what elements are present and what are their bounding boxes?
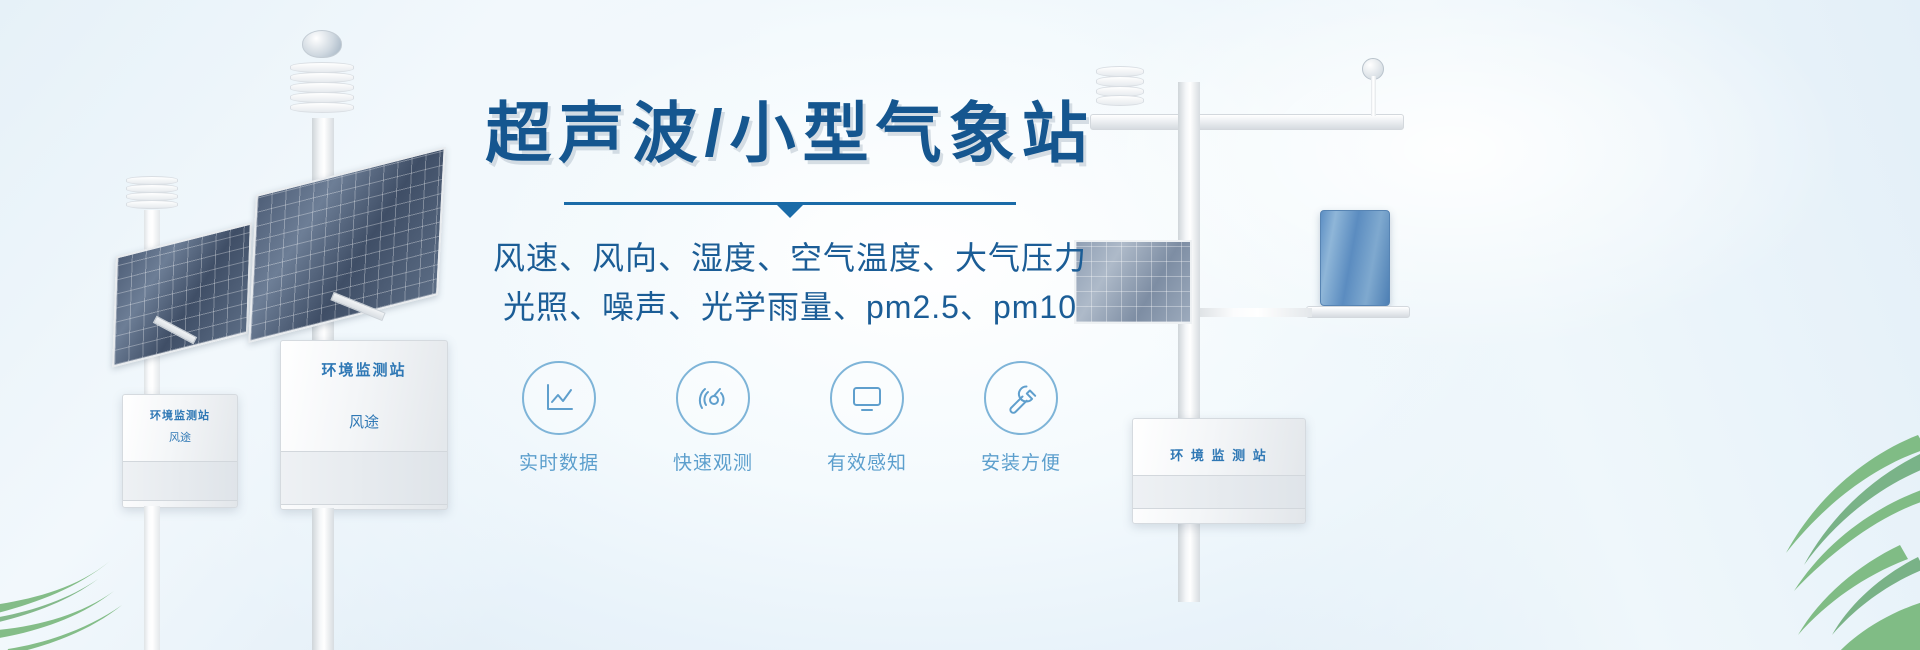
wrench-icon bbox=[984, 361, 1058, 435]
cabinet-panel-strip bbox=[1133, 475, 1305, 509]
radiation-shield-icon bbox=[126, 176, 178, 212]
feature-list: 实时数据 快速观测 bbox=[440, 361, 1140, 475]
feature-label: 实时数据 bbox=[505, 448, 613, 475]
lower-pole bbox=[312, 508, 334, 650]
cabinet-label: 环境监测站 bbox=[281, 359, 447, 380]
cabinet-brand-logo: 风途 bbox=[123, 429, 237, 445]
monitor-screen-icon bbox=[830, 361, 904, 435]
banner-content: 超声波/小型气象站 风速、风向、湿度、空气温度、大气压力 光照、噪声、光学雨量、… bbox=[440, 96, 1140, 475]
product-banner: 环境监测站 风途 环境监测站 风途 bbox=[0, 0, 1920, 650]
leaf-decoration-left-icon bbox=[0, 465, 190, 650]
line-chart-icon bbox=[522, 361, 596, 435]
subtitle-block: 风速、风向、湿度、空气温度、大气压力 光照、噪声、光学雨量、pm2.5、pm10 bbox=[440, 234, 1140, 331]
feature-label: 有效感知 bbox=[813, 448, 921, 475]
radiation-shield-icon bbox=[290, 62, 354, 120]
divider bbox=[564, 202, 1016, 218]
cabinet-brand-logo: 风途 bbox=[281, 411, 447, 432]
radar-signal-icon bbox=[676, 361, 750, 435]
shelf-support-arm bbox=[1200, 308, 1312, 317]
feature-item-fast-observation[interactable]: 快速观测 bbox=[659, 361, 767, 475]
page-title: 超声波/小型气象站 bbox=[440, 96, 1140, 172]
cabinet-label: 环 境 监 测 站 bbox=[1133, 445, 1305, 464]
rain-gauge-sensor bbox=[1320, 210, 1390, 306]
feature-label: 快速观测 bbox=[659, 448, 767, 475]
sensor-stem bbox=[1371, 76, 1376, 116]
control-cabinet: 环 境 监 测 站 bbox=[1132, 418, 1306, 524]
leaf-decoration-right-icon bbox=[1600, 395, 1920, 650]
feature-item-realtime-data[interactable]: 实时数据 bbox=[505, 361, 613, 475]
subtitle-line-1: 风速、风向、湿度、空气温度、大气压力 bbox=[440, 234, 1140, 283]
cabinet-panel-strip bbox=[281, 451, 447, 505]
feature-item-easy-installation[interactable]: 安装方便 bbox=[967, 361, 1075, 475]
feature-label: 安装方便 bbox=[967, 448, 1075, 475]
divider-triangle-icon bbox=[777, 205, 803, 218]
cabinet-label: 环境监测站 bbox=[123, 407, 237, 423]
rain-gauge-shelf bbox=[1306, 306, 1410, 318]
feature-item-effective-sensing[interactable]: 有效感知 bbox=[813, 361, 921, 475]
control-cabinet: 环境监测站 风途 bbox=[280, 340, 448, 510]
sky-dome-sensor-icon bbox=[302, 30, 342, 58]
mounting-pole bbox=[1178, 82, 1200, 602]
subtitle-line-2: 光照、噪声、光学雨量、pm2.5、pm10 bbox=[440, 283, 1140, 332]
